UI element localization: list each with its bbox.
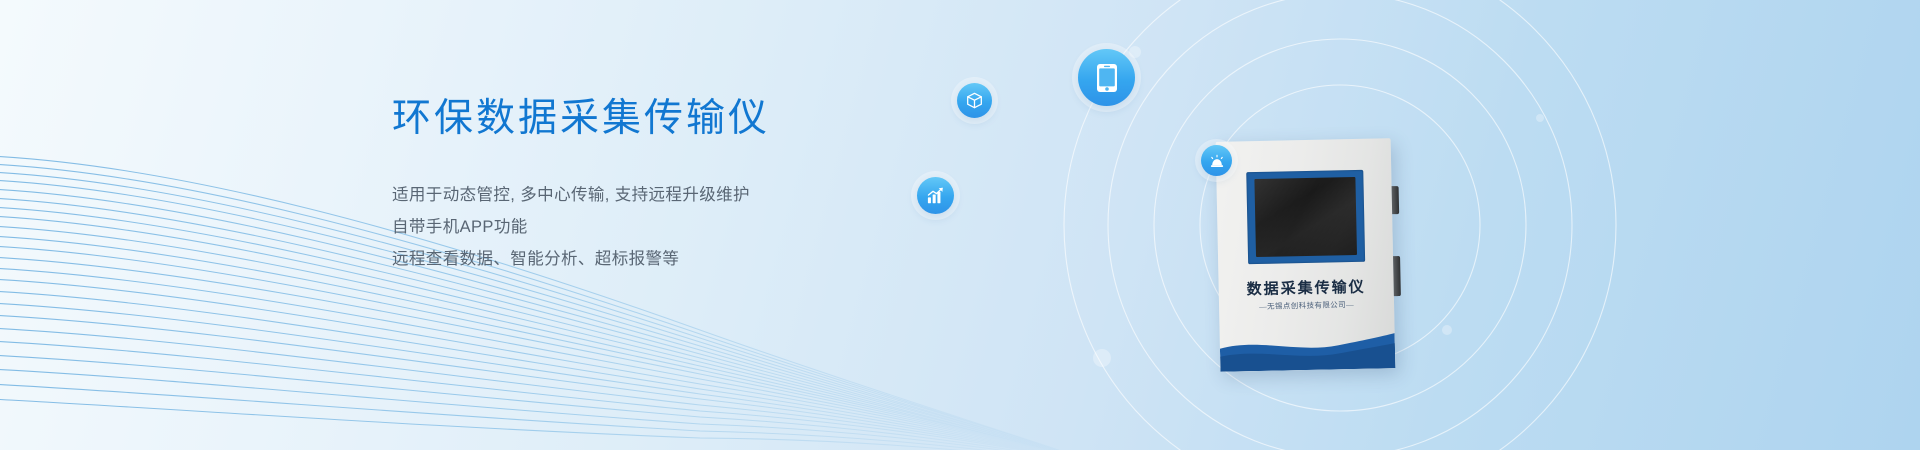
- box-icon: [957, 83, 992, 118]
- device-side-connector-bottom: [1393, 256, 1401, 296]
- device-footer-wave: [1220, 331, 1396, 372]
- alarm-icon: [1201, 145, 1232, 176]
- background-arcs-right: [0, 0, 1920, 450]
- phone-icon: [1078, 49, 1135, 106]
- hero-text-block: 环保数据采集传输仪 适用于动态管控, 多中心传输, 支持远程升级维护 自带手机A…: [392, 96, 912, 275]
- device-screen: [1254, 177, 1357, 257]
- subtitle-line-2: 自带手机APP功能: [392, 211, 912, 243]
- page-title: 环保数据采集传输仪: [392, 96, 912, 143]
- device-side-connector-top: [1392, 186, 1400, 214]
- product-banner: 环保数据采集传输仪 适用于动态管控, 多中心传输, 支持远程升级维护 自带手机A…: [0, 0, 1920, 450]
- product-device: 数据采集传输仪 —无锡点创科技有限公司—: [1216, 138, 1396, 372]
- device-label: 数据采集传输仪: [1218, 275, 1393, 300]
- subtitle-line-3: 远程查看数据、智能分析、超标报警等: [392, 243, 912, 275]
- subtitle-line-1: 适用于动态管控, 多中心传输, 支持远程升级维护: [392, 179, 912, 211]
- device-screen-frame: [1246, 170, 1365, 264]
- subtitle-list: 适用于动态管控, 多中心传输, 支持远程升级维护 自带手机APP功能 远程查看数…: [392, 179, 912, 276]
- chart-icon: [917, 177, 954, 214]
